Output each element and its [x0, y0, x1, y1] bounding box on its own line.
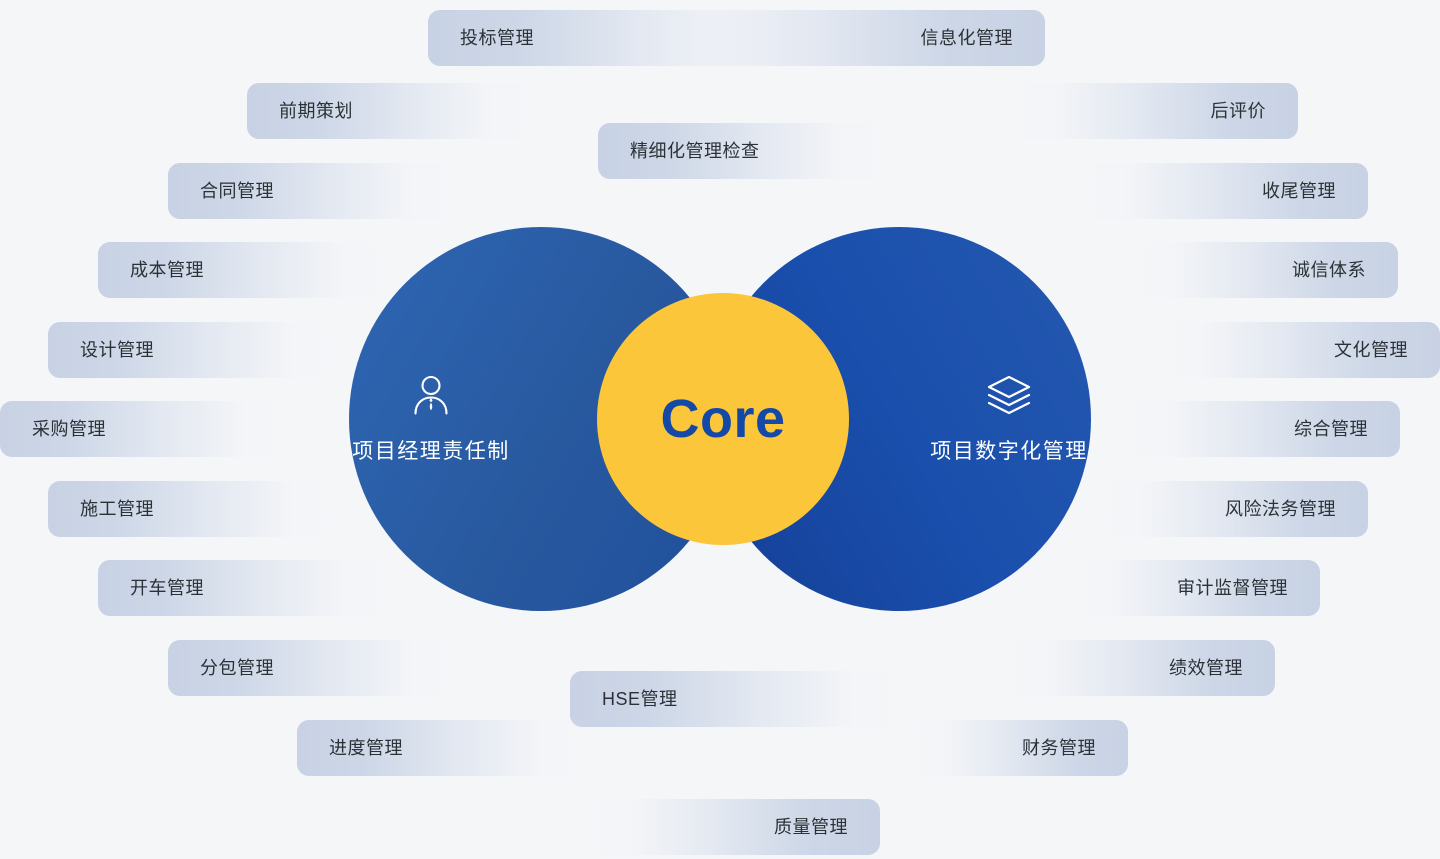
pill-hse-guanli[interactable]: HSE管理 [570, 671, 922, 727]
pill-qianqi-cehua[interactable]: 前期策划 [247, 83, 552, 139]
pill-zonghe-guanli[interactable]: 综合管理 [1110, 401, 1400, 457]
pill-label: 设计管理 [80, 341, 154, 359]
venn-label-left: 项目经理责任制 [352, 435, 510, 465]
pill-kaiche-guanli[interactable]: 开车管理 [98, 560, 403, 616]
core-label: Core [660, 392, 785, 446]
pill-label: 审计监督管理 [1177, 579, 1288, 597]
core-circle[interactable]: Core [597, 293, 849, 545]
pill-label: 诚信体系 [1292, 261, 1366, 279]
pill-jindu-guanli[interactable]: 进度管理 [297, 720, 602, 776]
pill-shigong-guanli[interactable]: 施工管理 [48, 481, 353, 537]
pill-label: 前期策划 [279, 102, 353, 120]
pill-label: 开车管理 [130, 579, 204, 597]
pill-chengben-guanli[interactable]: 成本管理 [98, 242, 403, 298]
venn-label-right: 项目数字化管理 [930, 435, 1088, 465]
pill-label: 分包管理 [200, 659, 274, 677]
pill-caigou-guanli[interactable]: 采购管理 [0, 401, 305, 457]
pill-fengxian-fawu-guanli[interactable]: 风险法务管理 [1085, 481, 1368, 537]
pill-sheji-guanli[interactable]: 设计管理 [48, 322, 353, 378]
pill-fenbao-guanli[interactable]: 分包管理 [168, 640, 473, 696]
person-tie-icon [409, 373, 453, 417]
pill-shenji-jiandu-guanli[interactable]: 审计监督管理 [1060, 560, 1320, 616]
pill-label: 综合管理 [1294, 420, 1368, 438]
pill-label: 采购管理 [32, 420, 106, 438]
pill-shouwei-guanli[interactable]: 收尾管理 [1063, 163, 1368, 219]
pill-caiwu-guanli[interactable]: 财务管理 [898, 720, 1128, 776]
venn-content-left: 项目经理责任制 [352, 373, 510, 465]
pill-xinxihua-guanli[interactable]: 信息化管理 [610, 10, 1045, 66]
pill-chengxin-tixi[interactable]: 诚信体系 [1118, 242, 1398, 298]
pill-label: 精细化管理检查 [630, 142, 760, 160]
pill-label: 信息化管理 [921, 29, 1014, 47]
pill-label: 风险法务管理 [1225, 500, 1336, 518]
layers-icon [986, 373, 1032, 417]
pill-wenhua-guanli[interactable]: 文化管理 [1143, 322, 1440, 378]
diagram-canvas: 投标管理 前期策划 精细化管理检查 合同管理 成本管理 设计管理 采购管理 施工… [0, 0, 1440, 859]
pill-hou-pingjia[interactable]: 后评价 [993, 83, 1298, 139]
pill-jixiao-guanli[interactable]: 绩效管理 [990, 640, 1275, 696]
pill-label: 施工管理 [80, 500, 154, 518]
pill-hetong-guanli[interactable]: 合同管理 [168, 163, 473, 219]
pill-label: 收尾管理 [1262, 182, 1336, 200]
pill-label: HSE管理 [602, 690, 678, 708]
pill-label: 后评价 [1211, 102, 1267, 120]
pill-jingxihua-guanli-jiancha[interactable]: 精细化管理检查 [598, 123, 903, 179]
venn-content-right: 项目数字化管理 [930, 373, 1088, 465]
pill-label: 质量管理 [774, 818, 848, 836]
pill-label: 财务管理 [1022, 739, 1096, 757]
pill-label: 绩效管理 [1169, 659, 1243, 677]
pill-label: 文化管理 [1334, 341, 1408, 359]
pill-zhiliang-guanli[interactable]: 质量管理 [570, 799, 880, 855]
pill-label: 投标管理 [460, 29, 534, 47]
pill-label: 合同管理 [200, 182, 274, 200]
pill-label: 成本管理 [130, 261, 204, 279]
pill-label: 进度管理 [329, 739, 403, 757]
